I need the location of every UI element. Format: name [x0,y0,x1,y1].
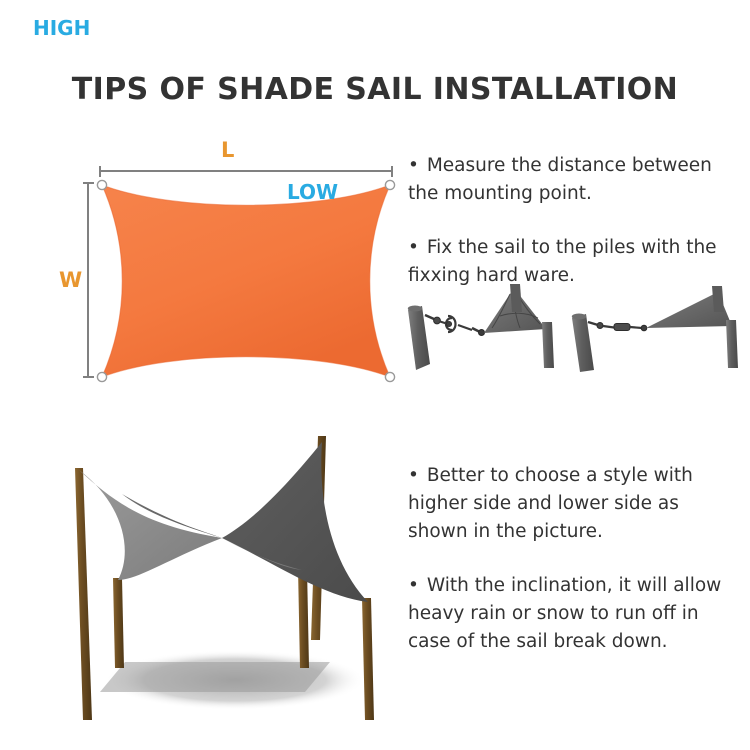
rectangle-sail-diagram: L W [55,140,400,405]
tall-post-icon [75,468,92,720]
length-dimension-label: L [221,138,234,162]
tip-line: • Fix the sail to the piles with the [408,234,750,262]
tips-list-bottom: • Better to choose a style with higher s… [408,462,750,656]
vertical-dimension-line-icon [83,182,93,378]
tip-line: • With the inclination, it will allow [408,572,750,600]
post-cable-sail-corner [572,286,738,372]
width-dimension-label: W [59,268,82,292]
high-side-label: HIGH [33,16,90,40]
tip-text: Better to choose a style with [427,465,693,486]
tip-item: • Better to choose a style with higher s… [408,462,750,546]
tips-list-top: • Measure the distance between the mount… [408,152,750,290]
short-post-icon [113,578,124,668]
tip-text: With the inclination, it will allow [427,575,721,596]
tip-line: heavy rain or snow to run off in [408,600,750,628]
hardware-illustrations [400,282,750,372]
tip-text: Fix the sail to the piles with the [427,237,717,258]
sail-panel-light [79,470,222,580]
orange-sail-shape [93,176,399,386]
tip-line: the mounting point. [408,180,750,208]
turnbuckle-icon [425,315,456,332]
carabiner-icon [458,325,485,336]
bullet-icon: • [408,155,421,176]
sail-corner-triangle-icon [646,286,738,368]
tip-line: case of the sail break down. [408,628,750,656]
sail-corner-triangle-icon [484,284,554,368]
horizontal-dimension-line-icon [99,166,393,176]
tip-item: • With the inclination, it will allow he… [408,572,750,656]
page-title: TIPS OF SHADE SAIL INSTALLATION [0,72,750,107]
post-turnbuckle-sail-corner [408,284,554,370]
short-post-icon [298,568,309,668]
short-post-icon [362,598,374,720]
infographic-page: TIPS OF SHADE SAIL INSTALLATION L W [0,0,750,750]
bullet-icon: • [408,237,421,258]
tip-text: Measure the distance between [427,155,712,176]
tip-line: • Measure the distance between [408,152,750,180]
low-side-label: LOW [287,180,338,204]
tip-line: shown in the picture. [408,518,750,546]
shadow-icon [100,662,330,692]
sail-panel-dark [222,442,368,602]
bullet-icon: • [408,575,421,596]
tip-item: • Measure the distance between the mount… [408,152,750,208]
cable-tensioner-icon [588,322,647,331]
bullet-icon: • [408,465,421,486]
tip-line: • Better to choose a style with [408,462,750,490]
tip-line: higher side and lower side as [408,490,750,518]
canopy-scene [30,430,425,730]
